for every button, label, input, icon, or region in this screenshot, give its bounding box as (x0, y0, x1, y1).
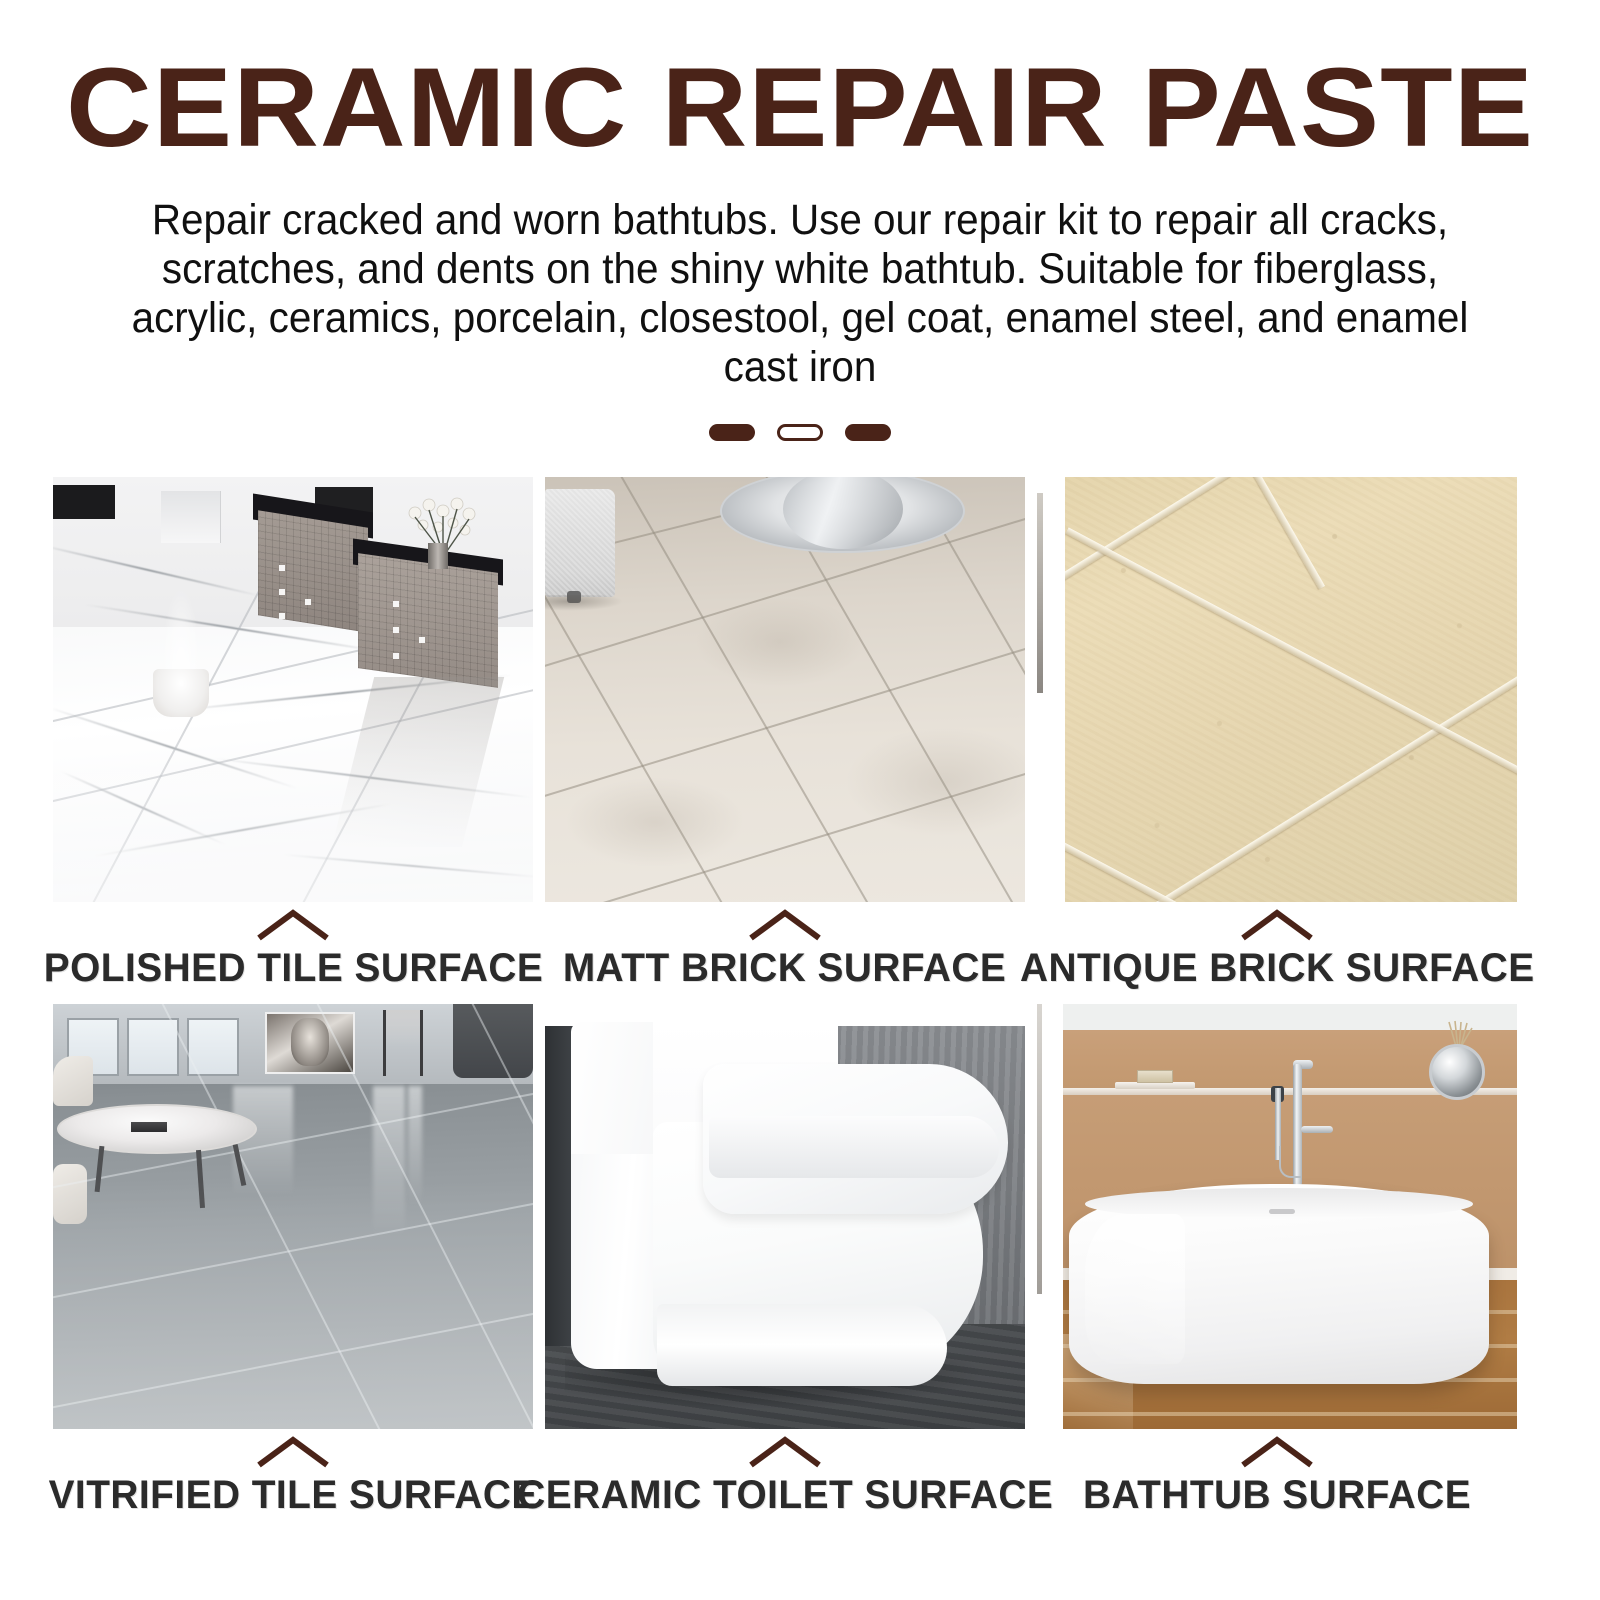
caption-block: BATHTUB SURFACE (1037, 1429, 1517, 1531)
chevron-up-icon (253, 1435, 333, 1469)
glossy-grey-vitrified-tile-living-room-photo (53, 1004, 533, 1429)
caption-block: CERAMIC TOILET SURFACE (545, 1429, 1025, 1531)
divider-pill-3 (845, 424, 891, 441)
page-subtitle: Repair cracked and worn bathtubs. Use ou… (114, 196, 1486, 392)
divider-pill-1 (709, 424, 755, 441)
grid-cell-bathtub: BATHTUB SURFACE (1037, 1004, 1517, 1531)
caption-block: VITRIFIED TILE SURFACE (53, 1429, 533, 1531)
white-ceramic-one-piece-toilet-photo (545, 1004, 1025, 1429)
chevron-up-icon (745, 908, 825, 942)
caption-label: BATHTUB SURFACE (1083, 1473, 1471, 1517)
product-infographic-page: CERAMIC REPAIR PASTE Repair cracked and … (0, 0, 1600, 1600)
page-title: CERAMIC REPAIR PASTE (0, 52, 1600, 164)
caption-label: POLISHED TILE SURFACE (43, 946, 543, 990)
chevron-up-icon (1237, 1435, 1317, 1469)
grid-cell-antique-brick: ANTIQUE BRICK SURFACE (1037, 477, 1517, 1004)
grid-cell-polished-tile: POLISHED TILE SURFACE (53, 477, 533, 1004)
grid-cell-matt-brick: MATT BRICK SURFACE (545, 477, 1025, 1004)
white-freestanding-bathtub-photo (1037, 1004, 1517, 1429)
caption-label: VITRIFIED TILE SURFACE (48, 1473, 537, 1517)
matte-beige-tile-floor-photo (545, 477, 1025, 902)
caption-block: ANTIQUE BRICK SURFACE (1037, 902, 1517, 1004)
chevron-up-icon (253, 908, 333, 942)
chevron-up-icon (745, 1435, 825, 1469)
caption-label: ANTIQUE BRICK SURFACE (1020, 946, 1535, 990)
divider (0, 424, 1600, 441)
caption-block: POLISHED TILE SURFACE (53, 902, 533, 1004)
caption-label: MATT BRICK SURFACE (563, 946, 1006, 990)
divider-pill-2 (777, 424, 823, 441)
antique-beige-travertine-tile-photo (1037, 477, 1517, 902)
grid-cell-ceramic-toilet: CERAMIC TOILET SURFACE (545, 1004, 1025, 1531)
caption-block: MATT BRICK SURFACE (545, 902, 1025, 1004)
surface-type-grid: POLISHED TILE SURFACE (53, 477, 1547, 1531)
caption-label: CERAMIC TOILET SURFACE (517, 1473, 1053, 1517)
chevron-up-icon (1237, 908, 1317, 942)
polished-marble-showroom-floor-photo (53, 477, 533, 902)
grid-cell-vitrified-tile: VITRIFIED TILE SURFACE (53, 1004, 533, 1531)
